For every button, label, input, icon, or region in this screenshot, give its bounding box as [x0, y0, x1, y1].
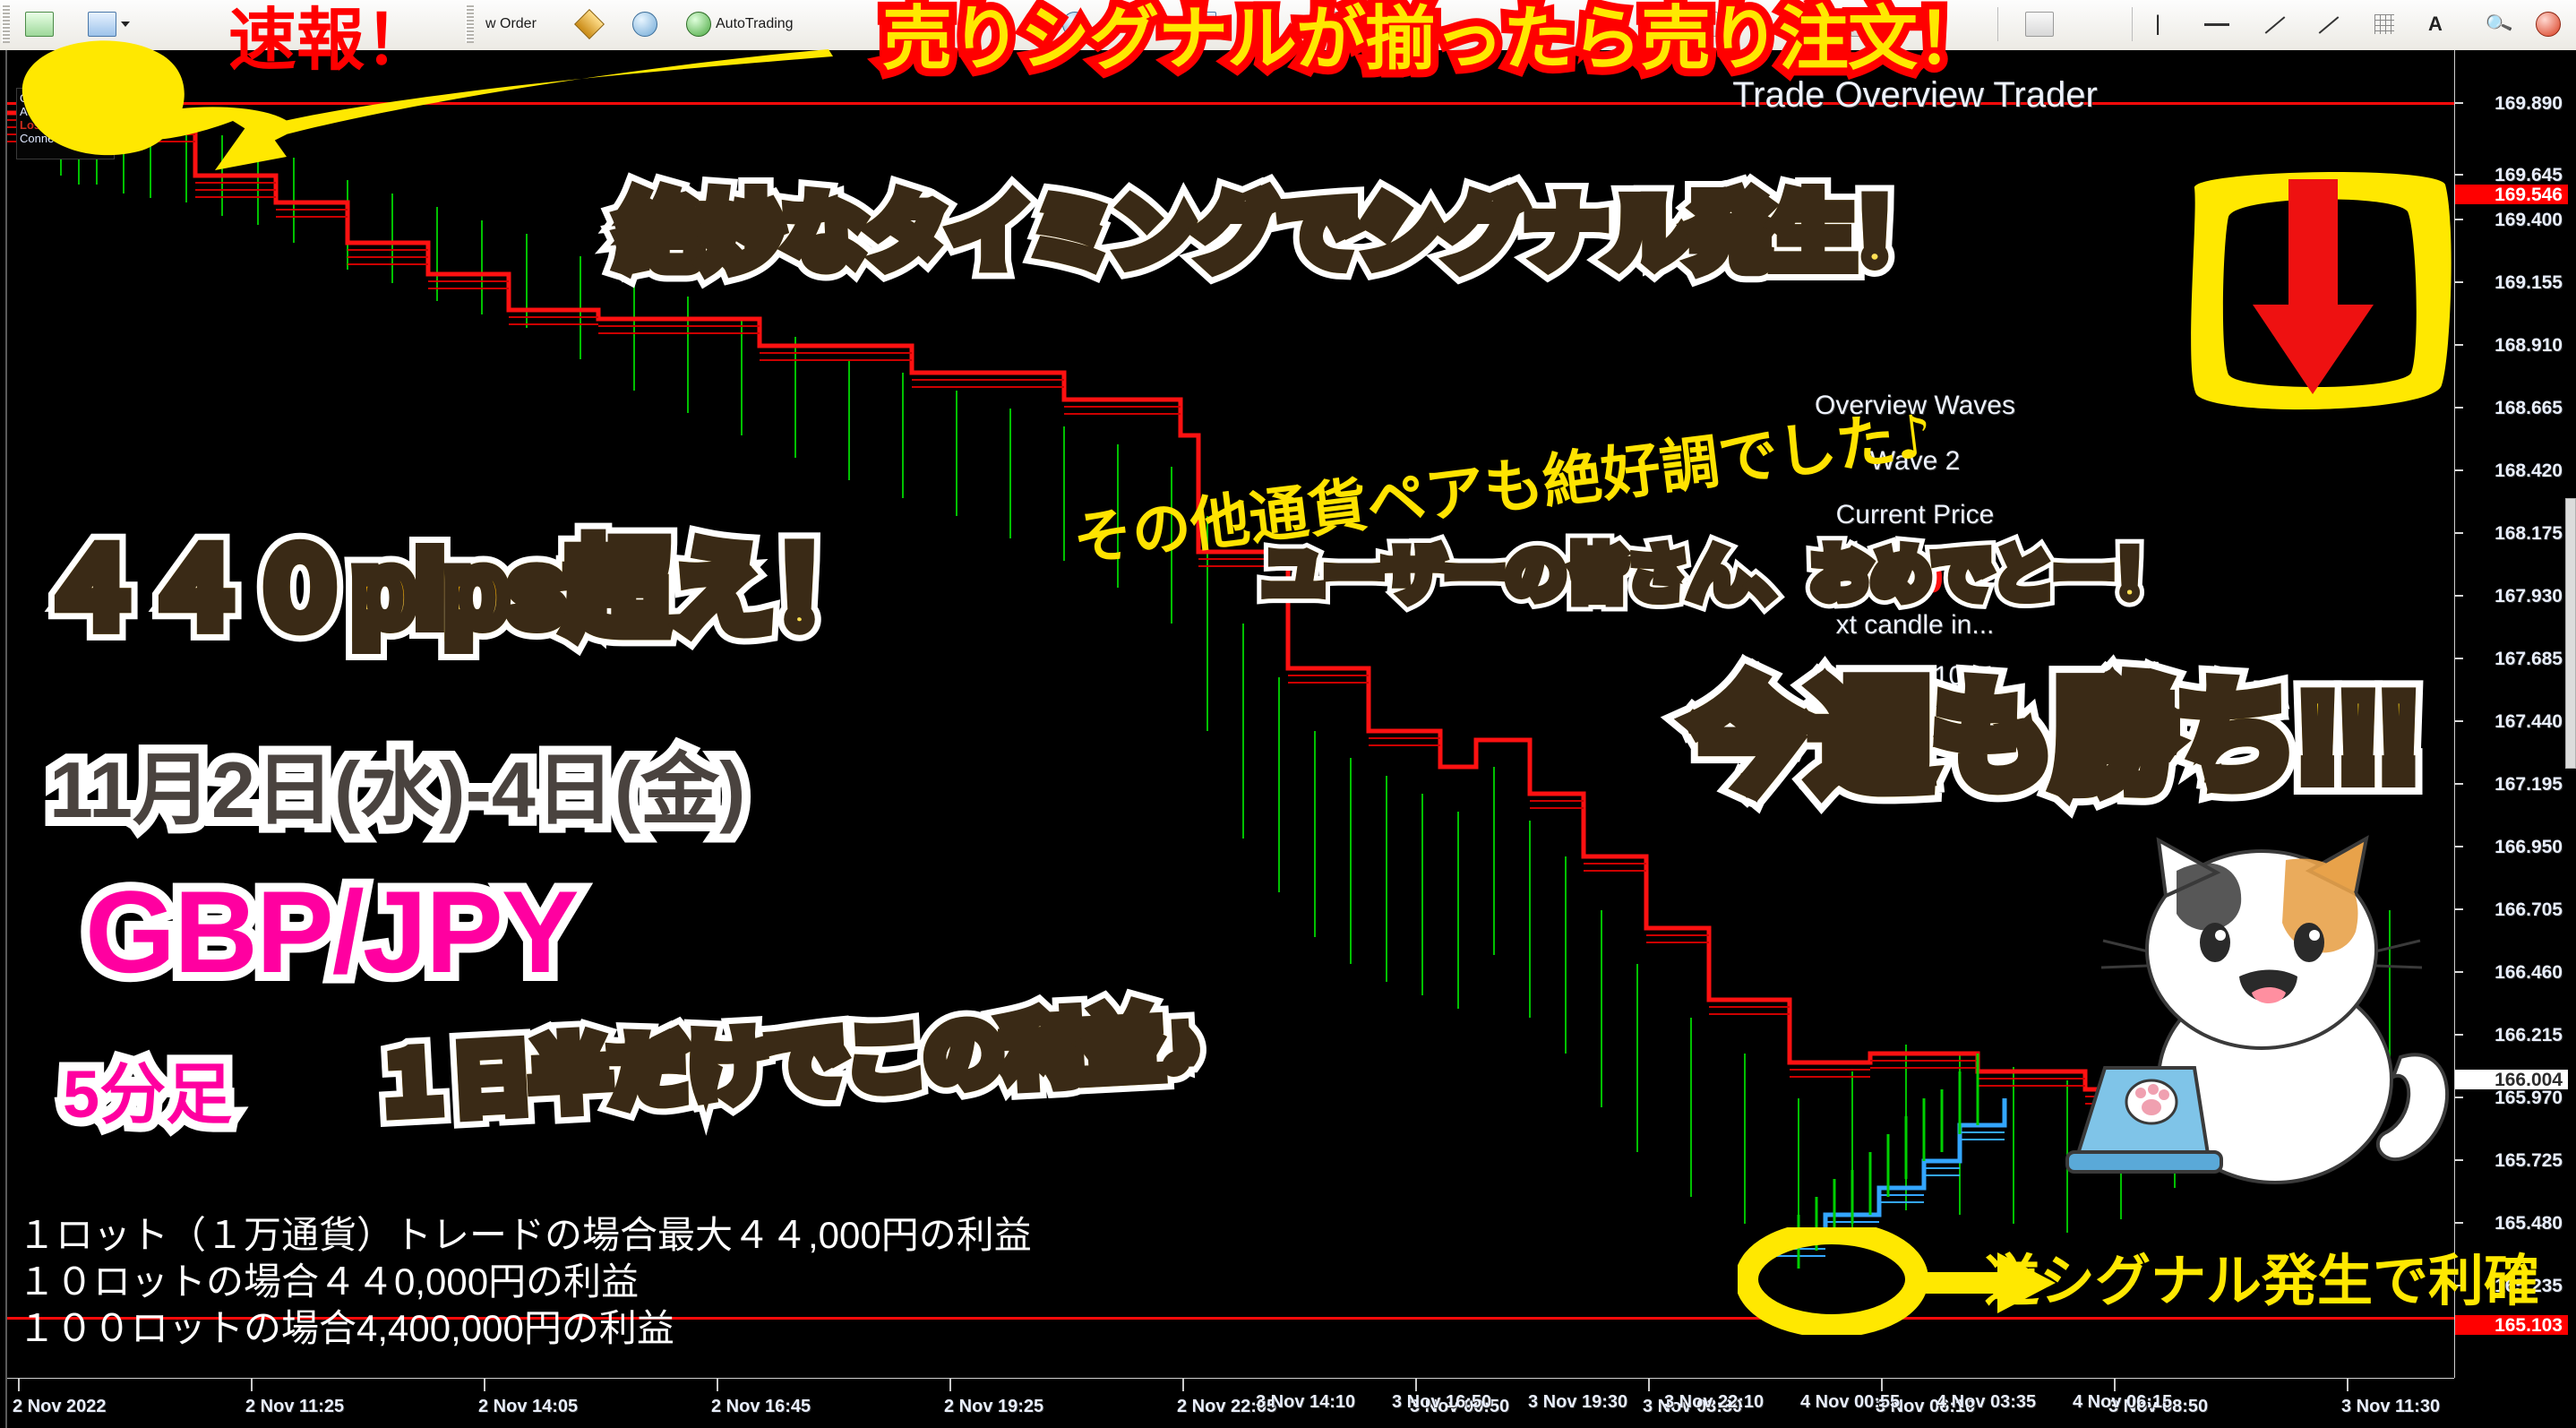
- new-order-label: w Order: [485, 16, 537, 32]
- time-tick: 3 Nov 19:30: [1528, 1392, 1627, 1413]
- price-tick: 167.440: [2455, 711, 2568, 731]
- highlight-swoosh: [107, 49, 842, 184]
- product-title: Trade Overview Trader: [1646, 75, 2184, 116]
- metaeditor-button[interactable]: [627, 5, 663, 43]
- metaeditor-icon: [632, 12, 657, 37]
- time-tick: 3 Nov 11:30: [2341, 1397, 2440, 1417]
- next-candle-label: xt candle in...: [1691, 610, 2139, 641]
- time-tick: 2 Nov 16:45: [711, 1397, 811, 1417]
- time-tick: 2 Nov 2022: [13, 1397, 107, 1417]
- date-range-label: 11月2日(水)-4日(金): [49, 751, 745, 830]
- vertical-scrollbar[interactable]: [2565, 498, 2576, 769]
- fibonacci-tool-button[interactable]: [2369, 5, 2400, 43]
- autotrading-button[interactable]: AutoTrading: [681, 5, 799, 43]
- price-tick: 167.195: [2455, 774, 2568, 794]
- channel-icon: [2316, 12, 2341, 37]
- screenshot-root: w Order AutoTrading: [0, 0, 2576, 1428]
- reverse-signal-label: 逆シグナル発生で利確: [1984, 1254, 2539, 1310]
- time-tick: 3 Nov 14:10: [1256, 1392, 1355, 1413]
- cat-mascot-illustration: [2051, 833, 2472, 1218]
- price-tick: 167.685: [2455, 649, 2568, 668]
- alert-icon: [2536, 12, 2561, 37]
- time-tick: 3 Nov 22:10: [1664, 1392, 1764, 1413]
- time-tick: 2 Nov 11:25: [245, 1397, 344, 1417]
- profit-line-3: １００ロットの場合4,400,000円の利益: [18, 1310, 674, 1347]
- templates-icon: [2025, 12, 2054, 37]
- price-tick: 167.930: [2455, 586, 2568, 606]
- price-tick: 168.420: [2455, 460, 2568, 480]
- profit-line-2: １０ロットの場合４４0,000円の利益: [18, 1263, 639, 1301]
- cursor-tool-button[interactable]: |: [2150, 5, 2166, 43]
- time-tick: 2 Nov 14:05: [478, 1397, 578, 1417]
- channel-tool-button[interactable]: [2311, 5, 2347, 43]
- profit-line-1: １ロット（１万通貨）トレードの場合最大４４,000円の利益: [18, 1217, 1032, 1254]
- autotrading-icon: [686, 12, 711, 37]
- crosshair-tool-button[interactable]: [2199, 5, 2235, 43]
- templates-button[interactable]: [2020, 5, 2059, 43]
- text-tool-button[interactable]: A: [2423, 5, 2448, 43]
- magnifier-icon: 🔍: [2483, 9, 2514, 39]
- time-tick: 4 Nov 00:55: [1800, 1392, 1900, 1413]
- cursor-icon: |: [2155, 12, 2160, 37]
- new-order-button[interactable]: w Order: [480, 5, 542, 43]
- timeframe-label: 5分足: [63, 1062, 232, 1128]
- autotrading-label: AutoTrading: [716, 16, 794, 32]
- price-tick: 169.890: [2455, 93, 2568, 113]
- price-tick-bottom-red: 165.103: [2455, 1315, 2568, 1335]
- toolbar-grip-2[interactable]: [466, 4, 474, 43]
- alert-button[interactable]: [2530, 5, 2566, 43]
- diamond-icon: [574, 9, 605, 39]
- time-tick: 4 Nov 06:15: [2073, 1392, 2172, 1413]
- sell-arrow-down-icon: [2248, 175, 2409, 408]
- current-price-label: Current Price: [1691, 500, 2139, 530]
- expert-advisor-button[interactable]: [573, 5, 605, 43]
- breaking-news-label: 速報！: [228, 7, 433, 75]
- zoom-tool-button[interactable]: 🔍: [2481, 5, 2516, 43]
- text-tool-label: A: [2428, 13, 2443, 36]
- top-banner-label: 売りシグナルが揃ったら売り注文！: [882, 4, 1986, 73]
- currency-pair-label: GBP/JPY: [85, 873, 578, 990]
- time-tick: 2 Nov 19:25: [944, 1397, 1043, 1417]
- fibonacci-icon: [2374, 14, 2394, 34]
- trendline-tool-button[interactable]: [2257, 5, 2293, 43]
- price-tick: 168.175: [2455, 523, 2568, 543]
- crosshair-icon: [2204, 23, 2229, 26]
- time-tick: 4 Nov 03:35: [1936, 1392, 2036, 1413]
- time-tick: 3 Nov 16:50: [1392, 1392, 1491, 1413]
- trendline-icon: [2263, 12, 2288, 37]
